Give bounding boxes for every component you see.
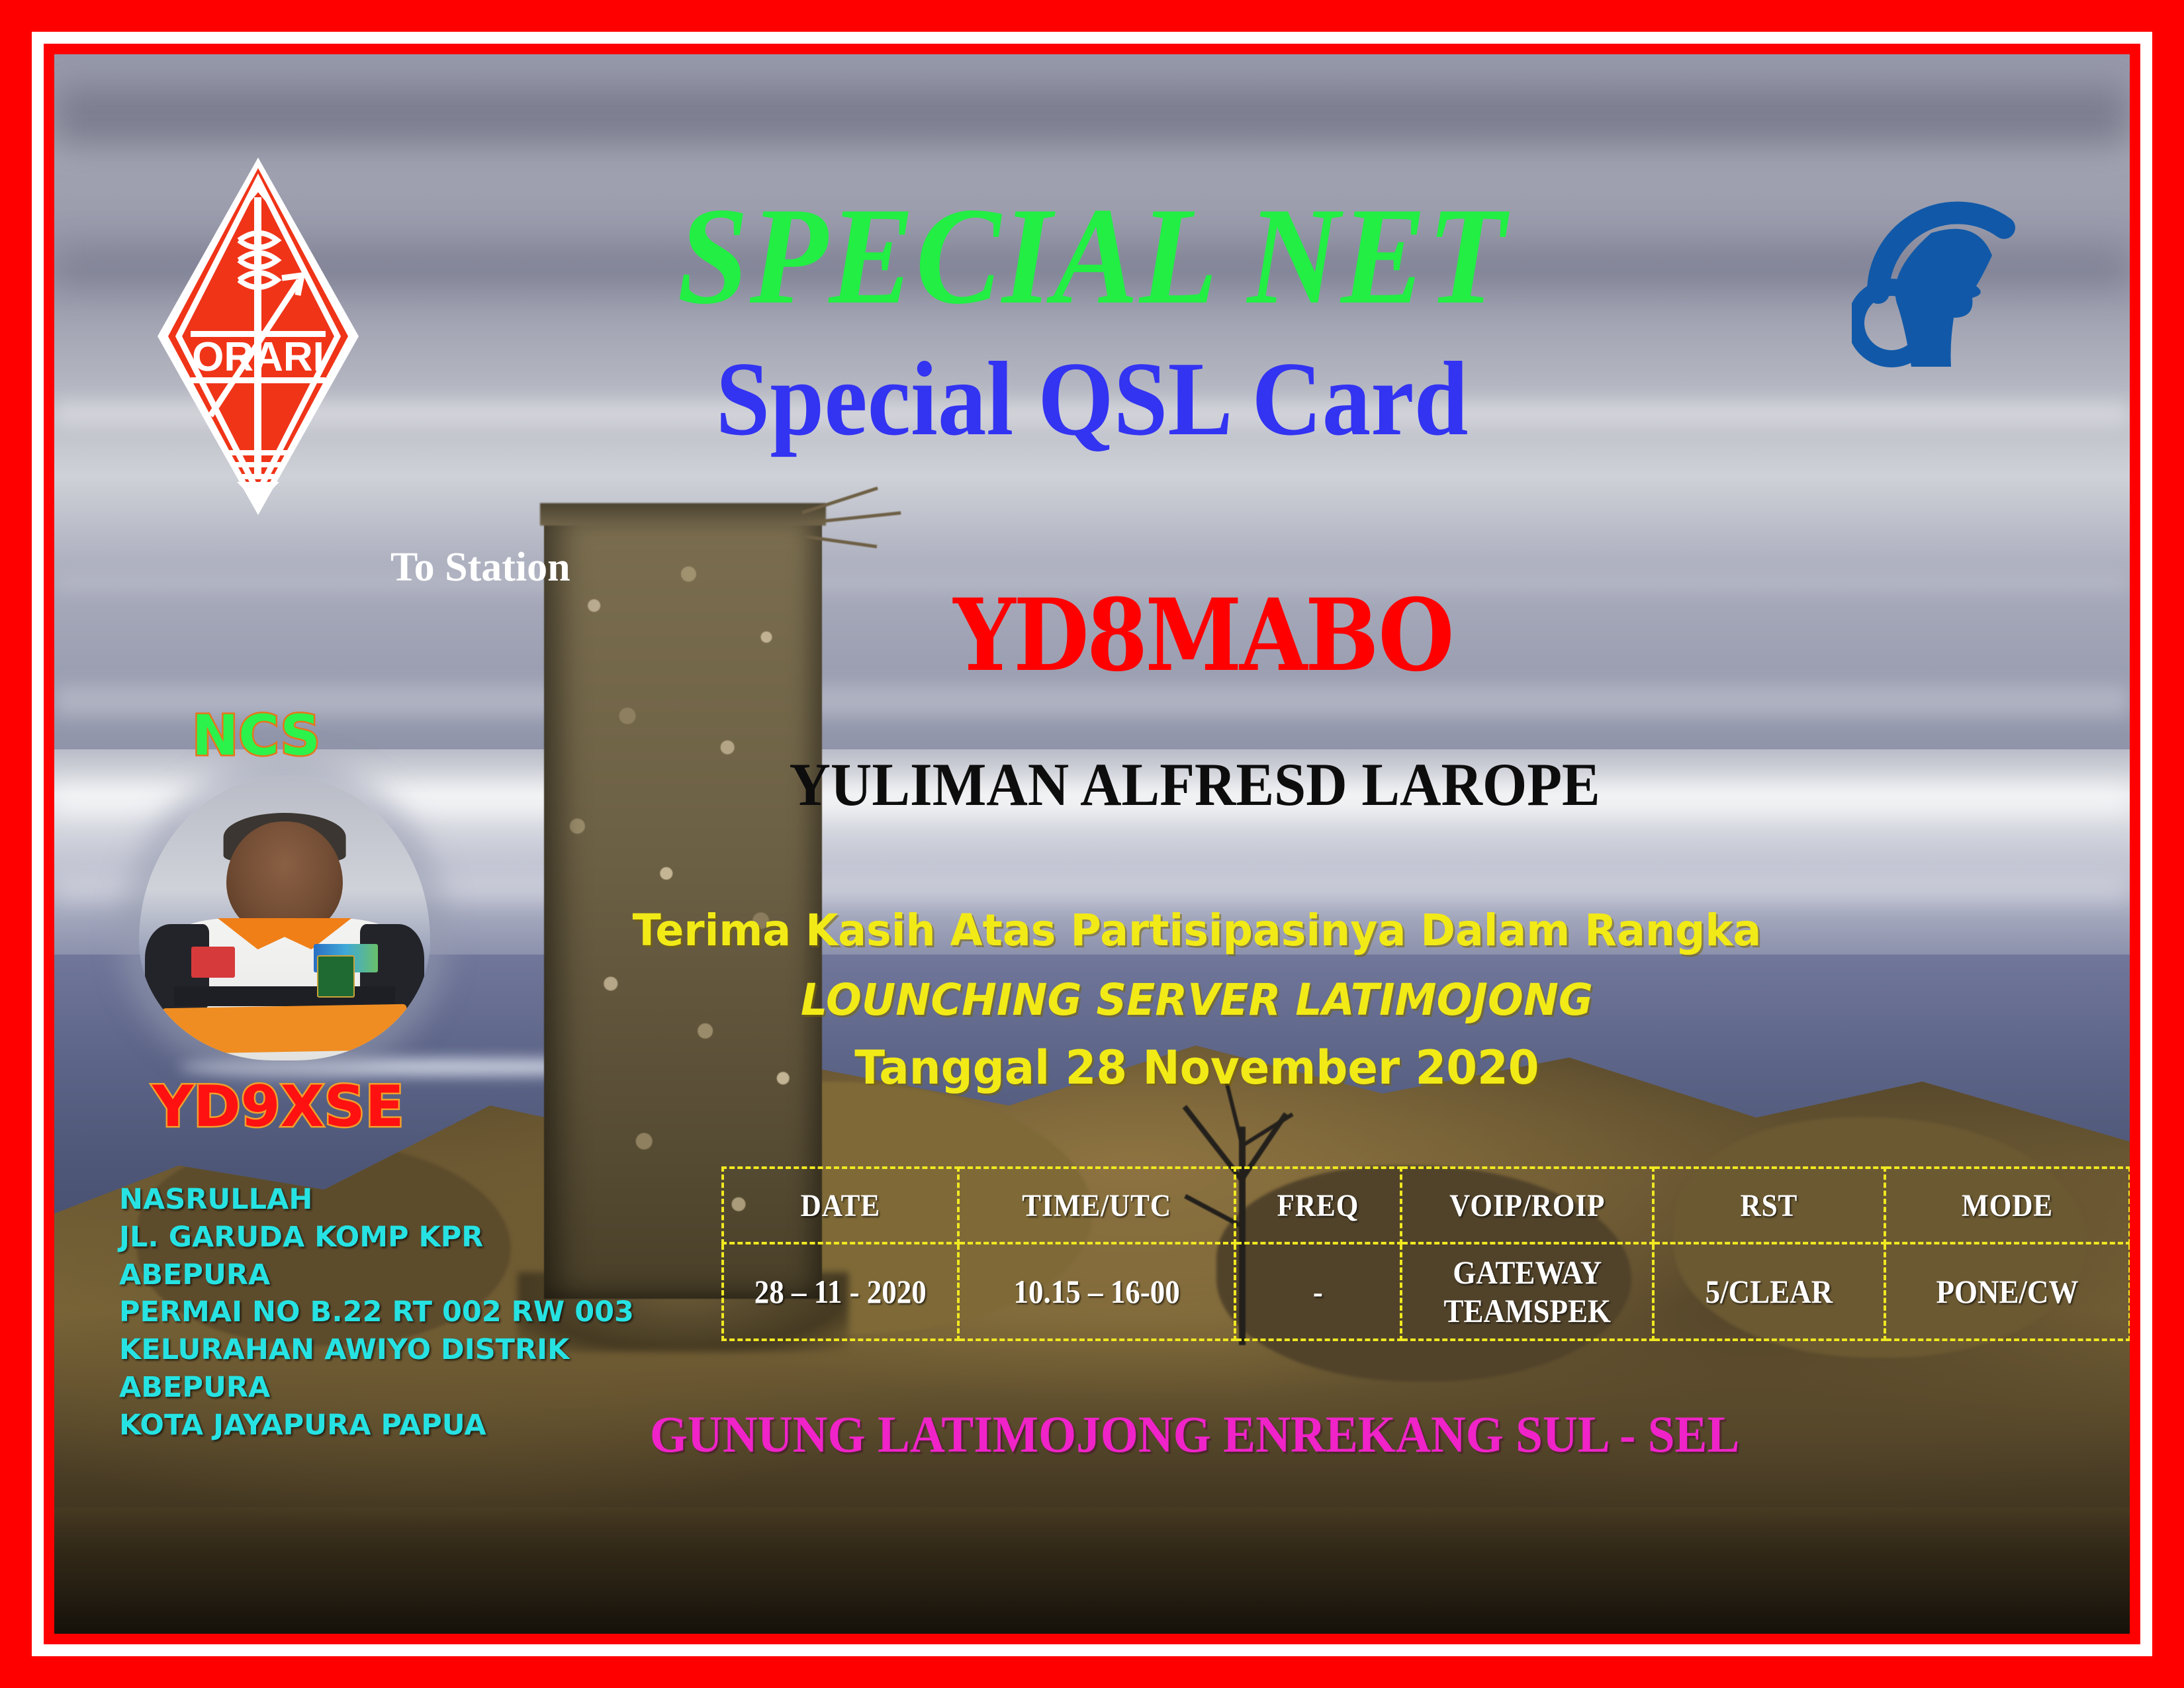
- ncs-label: NCS: [192, 703, 320, 768]
- thanks-line-1: Terima Kasih Atas Partisipasinya Dalam R…: [96, 905, 2089, 956]
- qsl-card: ORARI: [0, 0, 2184, 1688]
- address-line: KELURAHAN AWIYO DISTRIK: [119, 1331, 622, 1369]
- qso-log-table: DATE TIME/UTC FREQ VOIP/ROIP RST MODE 28…: [721, 1166, 2130, 1341]
- address-line: PERMAI NO B.22 RT 002 RW 003: [119, 1293, 622, 1331]
- page-title: SPECIAL NET: [137, 187, 2046, 326]
- cell-rst: 5/CLEAR: [1665, 1243, 1874, 1340]
- table-row: 28 – 11 - 2020 10.15 – 16-00 - GATEWAYTE…: [723, 1243, 2130, 1340]
- operator-name: YULIMAN ALFRESD LAROPE: [116, 749, 2068, 820]
- location-line: GUNUNG LATIMOJONG ENREKANG SUL - SEL: [116, 1405, 2068, 1464]
- cell-mode: PONE/CW: [1897, 1243, 2117, 1340]
- ncs-callsign: YD9XSE: [152, 1074, 404, 1140]
- to-station-callsign: YD8MABO: [179, 577, 2005, 694]
- cairn-cap: [540, 503, 826, 526]
- column-header-mode: MODE: [1897, 1168, 2117, 1243]
- column-header-rst: RST: [1665, 1168, 1874, 1243]
- cell-date: 28 – 11 - 2020: [735, 1243, 946, 1340]
- dark-grass-band: [54, 1507, 2130, 1634]
- cell-voip: GATEWAYTEAMSPEK: [1414, 1243, 1641, 1340]
- table-header-row: DATE TIME/UTC FREQ VOIP/ROIP RST MODE: [723, 1168, 2130, 1243]
- address-line: NASRULLAH: [119, 1181, 622, 1219]
- cell-time: 10.15 – 16-00: [972, 1243, 1221, 1340]
- address-line: ABEPURA: [119, 1369, 622, 1407]
- address-line: ABEPURA: [119, 1256, 622, 1294]
- column-header-date: DATE: [735, 1168, 946, 1243]
- thanks-line-2: LOUNCHING SERVER LATIMOJONG: [96, 974, 2089, 1025]
- column-header-time: TIME/UTC: [972, 1168, 1221, 1243]
- cell-freq: -: [1243, 1243, 1392, 1340]
- cloud-dark-1: [54, 86, 2130, 146]
- column-header-freq: FREQ: [1243, 1168, 1392, 1243]
- background-photo: ORARI: [54, 54, 2130, 1634]
- page-subtitle: Special QSL Card: [137, 346, 2046, 451]
- address-line: JL. GARUDA KOMP KPR: [119, 1219, 622, 1256]
- column-header-voip: VOIP/ROIP: [1414, 1168, 1641, 1243]
